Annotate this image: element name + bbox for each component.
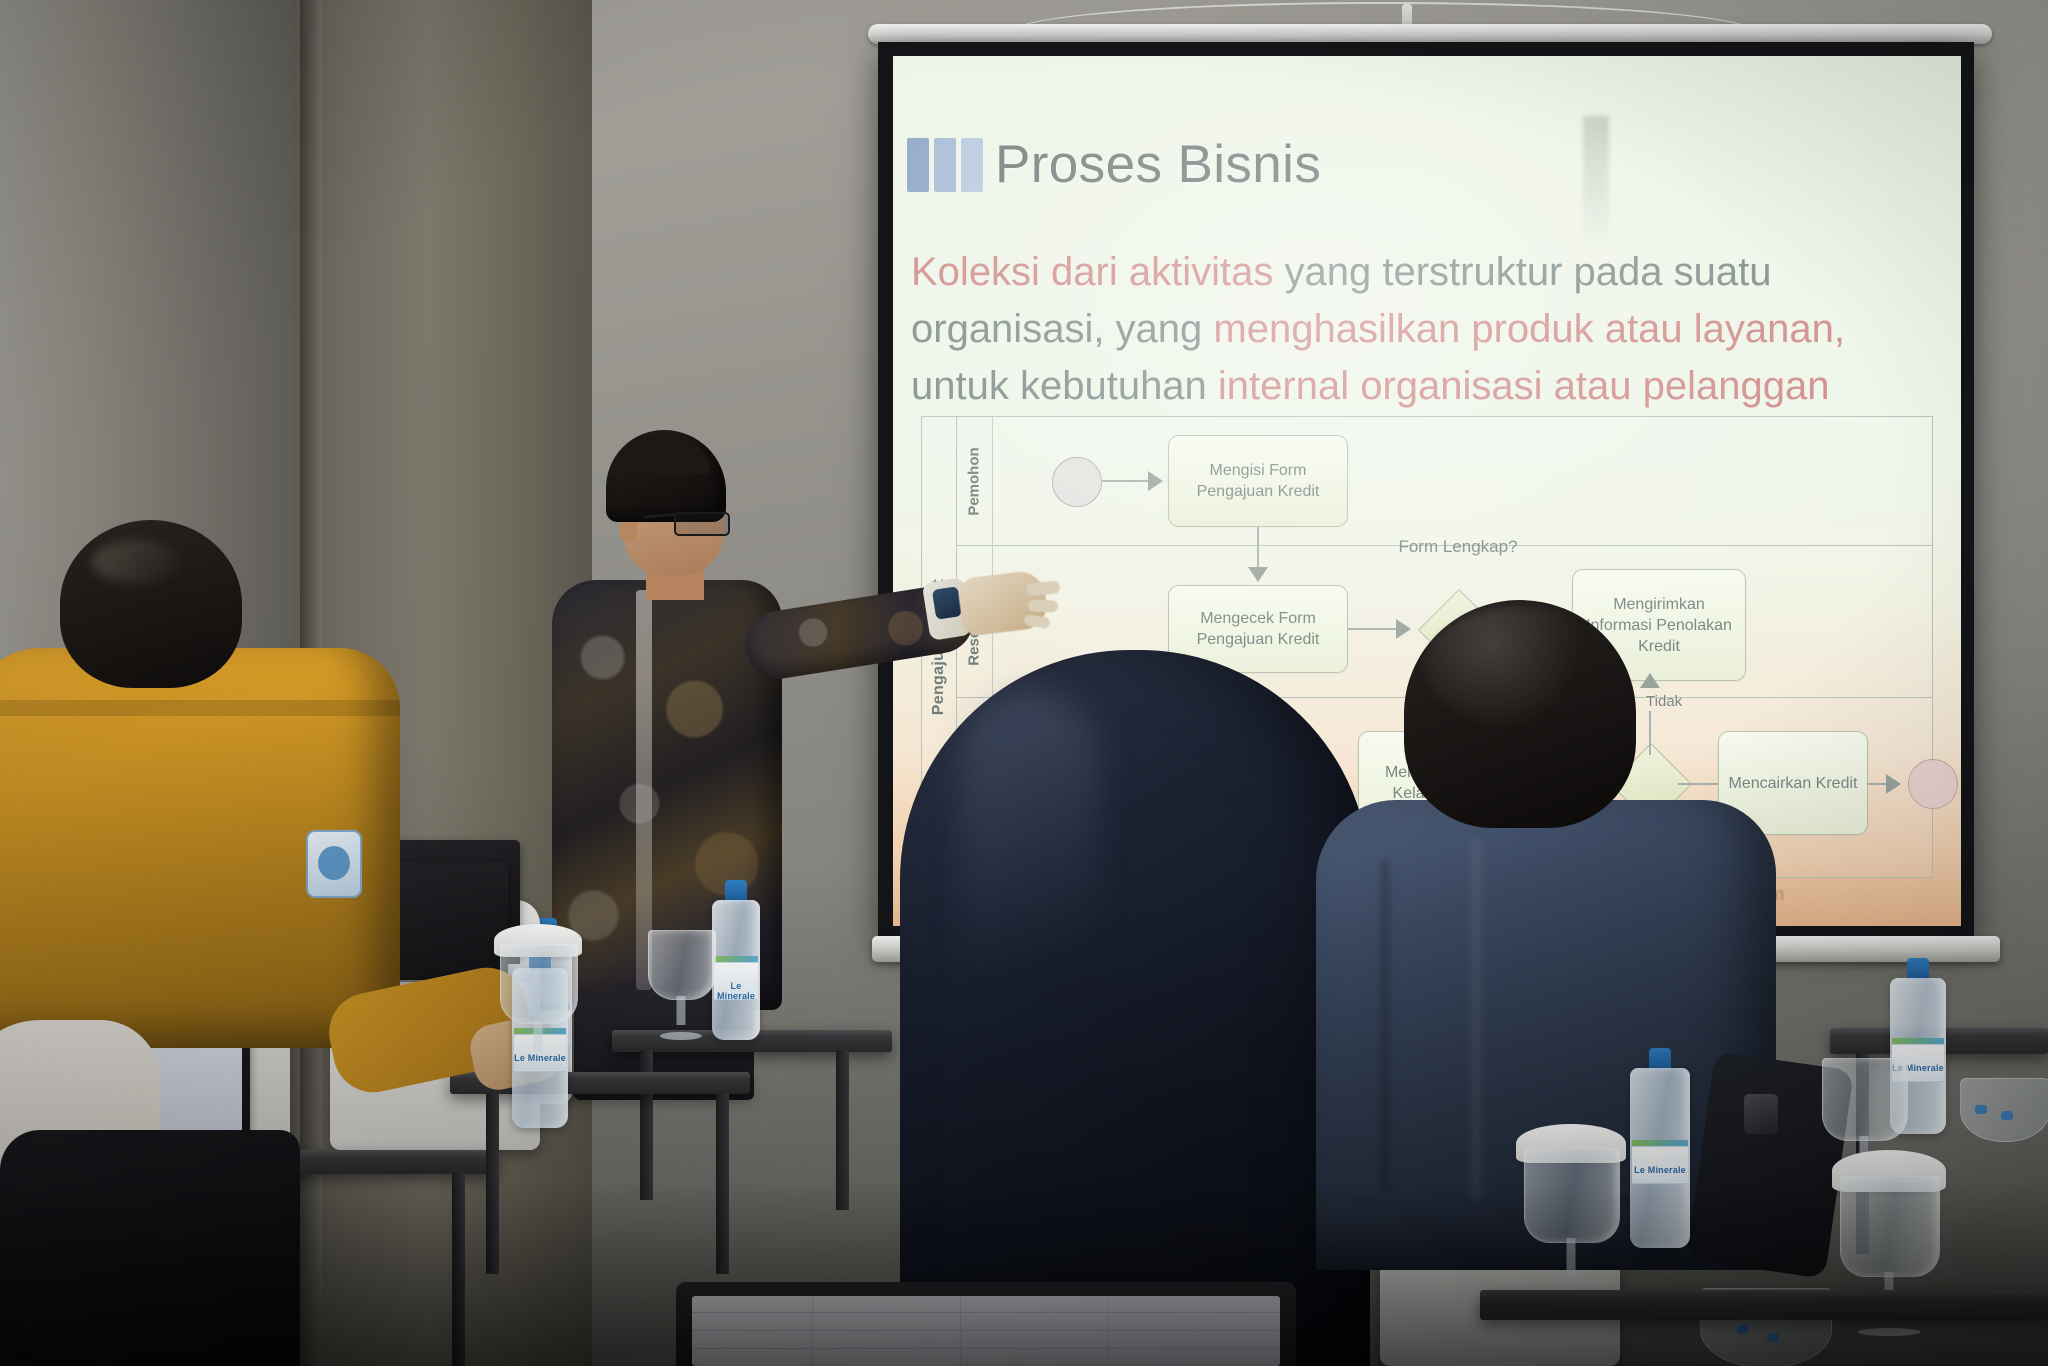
- image-vignette: [0, 0, 2048, 1366]
- training-room-photo: Proses Bisnis Koleksi dari aktivitas yan…: [0, 0, 2048, 1366]
